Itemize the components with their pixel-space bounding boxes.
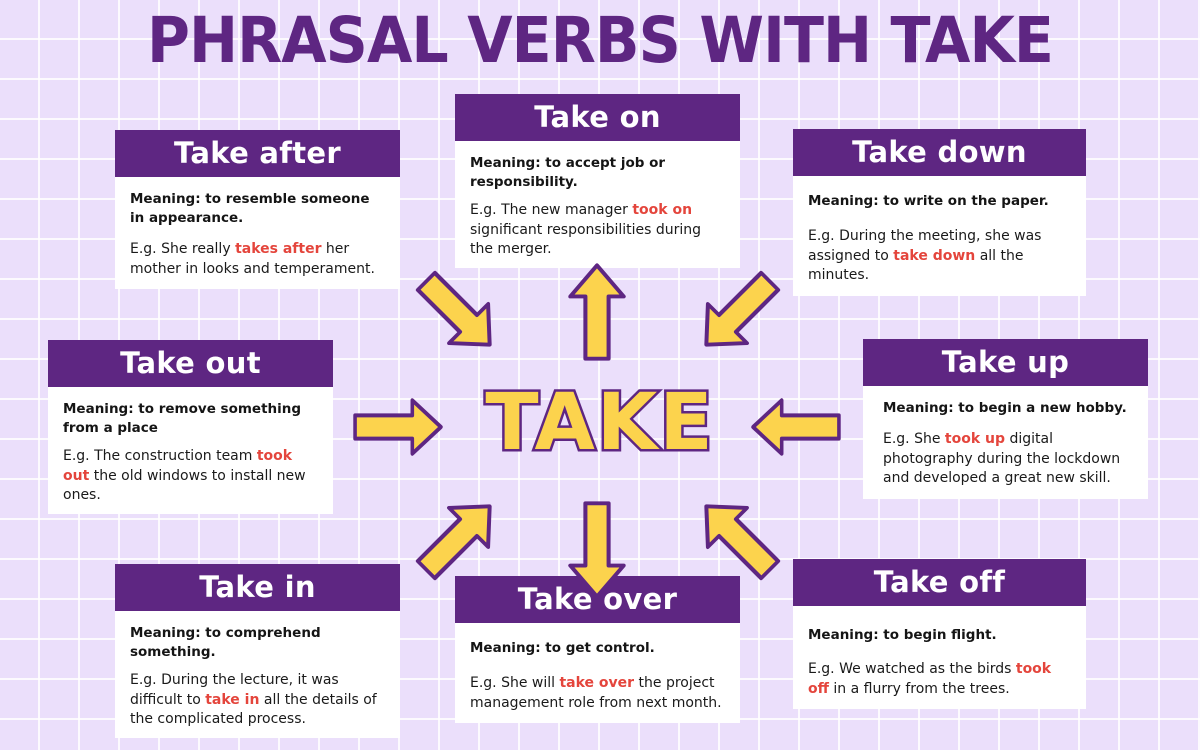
card-meaning: Meaning: to accept job or responsibility…: [470, 154, 725, 192]
card-title: Take down: [793, 129, 1086, 176]
example-pre: E.g. We watched as the birds: [808, 661, 1016, 677]
example-highlight: takes after: [235, 241, 321, 257]
arrow-down-icon: [568, 500, 626, 600]
card-example: E.g. We watched as the birds took off in…: [808, 660, 1071, 699]
center-take-label: TAKE: [0, 378, 1200, 468]
example-post: in a flurry from the trees.: [829, 681, 1010, 697]
card-body: Meaning: to resemble someone in appearan…: [115, 177, 400, 289]
card-title: Take after: [115, 130, 400, 177]
card-example: E.g. The new manager took on significant…: [470, 201, 725, 260]
card-meaning: Meaning: to resemble someone in appearan…: [130, 190, 385, 228]
card-meaning: Meaning: to comprehend something.: [130, 624, 385, 662]
example-highlight: took on: [632, 202, 692, 218]
example-pre: E.g. She really: [130, 241, 235, 257]
arrow-up-left-icon: [403, 258, 513, 368]
card-body: Meaning: to accept job or responsibility…: [455, 141, 740, 268]
card-take-on: Take on Meaning: to accept job or respon…: [455, 94, 740, 268]
example-highlight: take down: [893, 248, 975, 264]
arrow-right-icon: [750, 398, 842, 456]
card-meaning: Meaning: to get control.: [470, 639, 725, 658]
page-title: PHRASAL VERBS WITH TAKE: [42, 4, 1158, 78]
card-title: Take on: [455, 94, 740, 141]
card-example: E.g. She really takes after her mother i…: [130, 240, 385, 279]
example-pre: E.g. The new manager: [470, 202, 632, 218]
example-post: significant responsibilities during the …: [470, 222, 701, 258]
card-title: Take in: [115, 564, 400, 611]
card-take-off: Take off Meaning: to begin flight. E.g. …: [793, 559, 1086, 709]
card-body: Meaning: to get control. E.g. She will t…: [455, 623, 740, 723]
card-example: E.g. She will take over the project mana…: [470, 674, 725, 713]
example-post: the old windows to install new ones.: [63, 468, 306, 504]
example-highlight: take over: [559, 675, 634, 691]
card-take-after: Take after Meaning: to resemble someone …: [115, 130, 400, 289]
card-example: E.g. During the lecture, it was difficul…: [130, 671, 385, 730]
card-take-in: Take in Meaning: to comprehend something…: [115, 564, 400, 738]
card-example: E.g. During the meeting, she was assigne…: [808, 227, 1071, 286]
card-body: Meaning: to write on the paper. E.g. Dur…: [793, 176, 1086, 296]
arrow-up-icon: [568, 262, 626, 362]
example-pre: E.g. She will: [470, 675, 559, 691]
card-meaning: Meaning: to write on the paper.: [808, 192, 1071, 211]
card-body: Meaning: to comprehend something. E.g. D…: [115, 611, 400, 738]
card-title: Take off: [793, 559, 1086, 606]
arrow-left-icon: [352, 398, 444, 456]
card-body: Meaning: to begin flight. E.g. We watche…: [793, 606, 1086, 709]
card-take-down: Take down Meaning: to write on the paper…: [793, 129, 1086, 296]
card-meaning: Meaning: to begin flight.: [808, 626, 1071, 645]
example-highlight: take in: [205, 692, 259, 708]
arrow-up-right-icon: [683, 258, 793, 368]
